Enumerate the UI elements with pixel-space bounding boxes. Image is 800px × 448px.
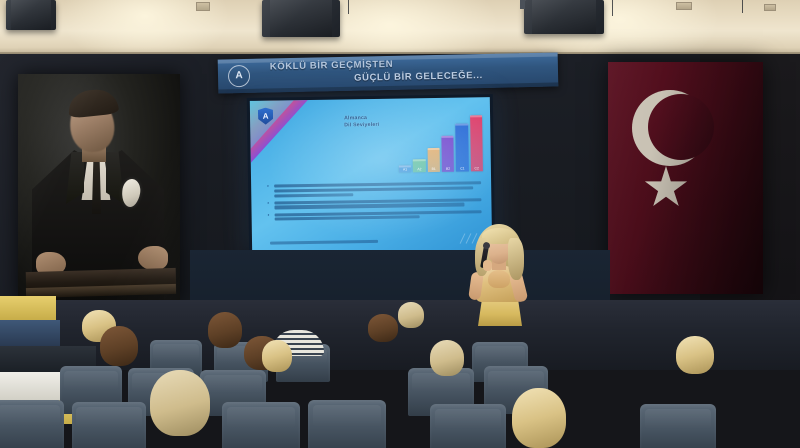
bar-label: C2	[471, 166, 483, 170]
projection-screen: A Almanca Dil Seviyeleri A1A2B1B2C1C2	[247, 94, 495, 258]
ceiling-speaker-box	[6, 0, 56, 30]
stage-banner: A KÖKLÜ BİR GEÇMİŞTEN GÜÇLÜ BİR GELECEĞE…	[218, 52, 559, 93]
slide-bullet	[268, 210, 482, 221]
flag-shading	[608, 62, 763, 294]
portrait-glare	[18, 74, 180, 302]
audience-head	[358, 392, 406, 444]
ceiling-cable	[348, 0, 349, 14]
bullet-text-line	[274, 193, 353, 197]
chart-bar-c1: C1	[456, 124, 469, 172]
chart-title: Almanca Dil Seviyeleri	[344, 114, 404, 128]
presenter-torso-shade	[488, 270, 510, 288]
ceiling-vent	[676, 2, 692, 10]
slide-bullet	[267, 198, 481, 209]
speaker-mount	[520, 0, 525, 9]
banner-logo-letter: A	[235, 71, 242, 81]
bar-highlight	[413, 159, 425, 161]
bar-label: B2	[442, 167, 454, 171]
bullet-text-line	[275, 210, 482, 216]
seat	[222, 402, 300, 448]
chart-bar-c2: C2	[470, 116, 483, 172]
seat	[0, 400, 64, 448]
turkish-flag	[608, 62, 763, 294]
chart-bar-b1: B1	[427, 148, 440, 173]
bar-label: A1	[399, 167, 411, 171]
banner-logo-icon: A	[228, 65, 250, 87]
ataturk-portrait	[18, 74, 180, 302]
audience-head	[150, 370, 210, 436]
audience-head	[430, 340, 464, 376]
audience-head	[196, 298, 234, 326]
bar-label: A2	[413, 167, 425, 171]
seat	[430, 404, 506, 448]
ceiling-cable	[612, 0, 613, 16]
bar-label: B1	[428, 167, 440, 171]
slide-chart: Almanca Dil Seviyeleri A1A2B1B2C1C2	[336, 109, 487, 177]
audience-head	[398, 302, 424, 328]
chart-bar-b2: B2	[441, 136, 454, 172]
chart-title-line-2: Dil Seviyeleri	[344, 121, 404, 129]
ceiling-speaker-box	[524, 0, 604, 34]
presenter-hand	[483, 260, 492, 271]
conference-hall-photo: A KÖKLÜ BİR GEÇMİŞTEN GÜÇLÜ BİR GELECEĞE…	[0, 0, 800, 448]
bullet-text-line	[275, 216, 420, 221]
audience-head	[292, 366, 354, 434]
presentation-slide: A Almanca Dil Seviyeleri A1A2B1B2C1C2	[250, 97, 492, 255]
audience-head	[382, 326, 424, 372]
chart-bar-a1: A1	[399, 165, 411, 172]
audience-head	[22, 332, 66, 378]
audience-head	[620, 340, 656, 374]
ceiling-vent	[764, 4, 776, 11]
audience-head	[262, 340, 292, 372]
bullet-text-line	[274, 203, 464, 209]
bar-label: C1	[456, 166, 468, 170]
seat	[72, 402, 146, 448]
ceiling-vent	[196, 2, 210, 11]
audience-head	[726, 326, 772, 374]
slide-bullet	[267, 181, 481, 197]
audience-seating	[0, 296, 800, 448]
bar-highlight	[470, 116, 482, 118]
audience-head	[530, 328, 568, 364]
slide-footnote	[270, 240, 378, 244]
chart-bars: A1A2B1B2C1C2	[398, 113, 483, 172]
slide-bullet-list	[267, 181, 482, 225]
slide-logo-letter: A	[263, 112, 269, 120]
audience-head	[688, 382, 744, 442]
banner-line-2: GÜÇLÜ BİR GELECEĞE...	[354, 70, 483, 84]
ceiling	[0, 0, 800, 56]
ceiling-cable	[742, 0, 743, 13]
audience-head	[512, 388, 566, 448]
audience-head	[572, 332, 616, 378]
banner-line-1: KÖKLÜ BİR GEÇMİŞTEN	[270, 59, 394, 73]
bar-highlight	[456, 124, 468, 126]
audience-head	[100, 326, 138, 366]
bar-highlight	[441, 136, 453, 138]
audience-shoulders	[0, 296, 56, 320]
ceiling-speaker-box	[262, 0, 340, 37]
audience-head	[676, 336, 714, 374]
chart-bar-a2: A2	[413, 159, 426, 172]
bullet-text-line	[274, 186, 473, 192]
audience-head	[596, 378, 654, 442]
bar-highlight	[427, 148, 439, 150]
audience-head	[752, 374, 800, 436]
presenter-hair-side-right	[508, 238, 524, 280]
